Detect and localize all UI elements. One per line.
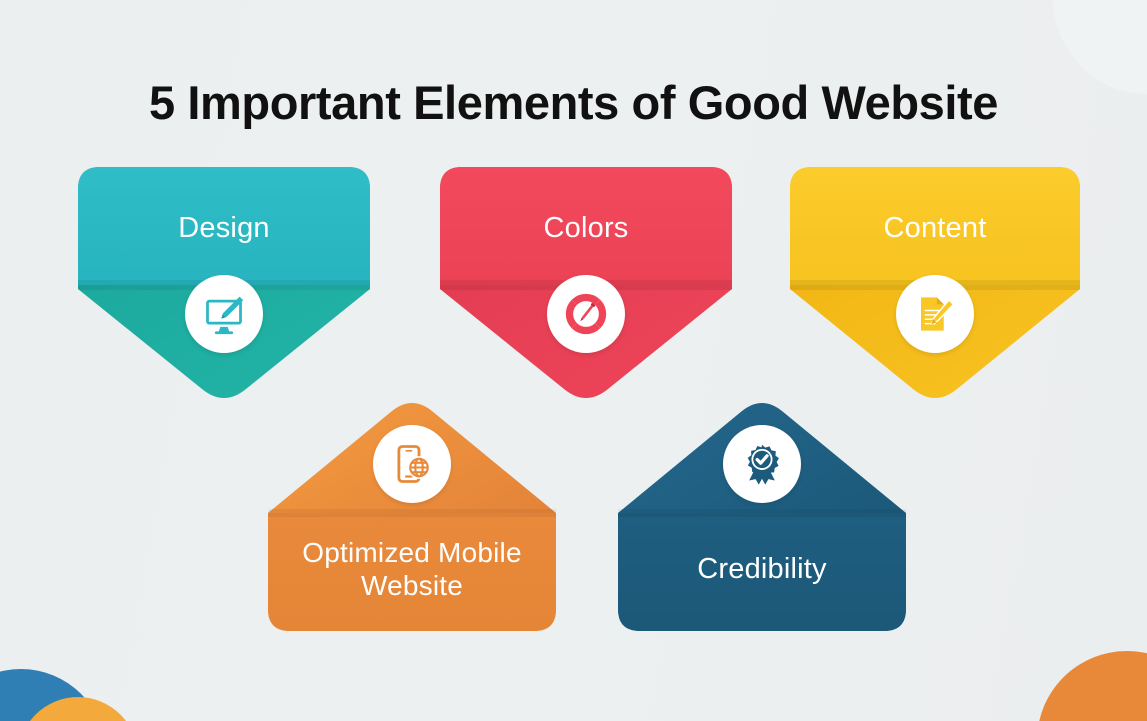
card-content[interactable]: Content (790, 167, 1080, 400)
decorative-blob-bottom-left-2 (18, 697, 138, 721)
card-colors[interactable]: Colors (440, 167, 732, 400)
decorative-blob-bottom-right (1037, 651, 1147, 721)
card-optimized-mobile-website[interactable]: Optimized Mobile Website (268, 395, 556, 631)
icon-badge-content (896, 275, 974, 353)
infographic-canvas: 5 Important Elements of Good Website Des… (0, 0, 1147, 721)
document-pencil-icon (914, 293, 956, 335)
page-title: 5 Important Elements of Good Website (0, 75, 1147, 130)
card-credibility[interactable]: Credibility (618, 395, 906, 631)
monitor-pencil-icon (202, 292, 246, 336)
icon-badge-credibility (723, 425, 801, 503)
badge-check-icon (740, 442, 784, 486)
icon-badge-optimized-mobile-website (373, 425, 451, 503)
icon-badge-colors (547, 275, 625, 353)
decorative-blob-bottom-left (0, 669, 106, 721)
mobile-globe-icon (391, 443, 433, 485)
icon-badge-design (185, 275, 263, 353)
color-wheel-icon (564, 292, 608, 336)
card-design[interactable]: Design (78, 167, 370, 400)
